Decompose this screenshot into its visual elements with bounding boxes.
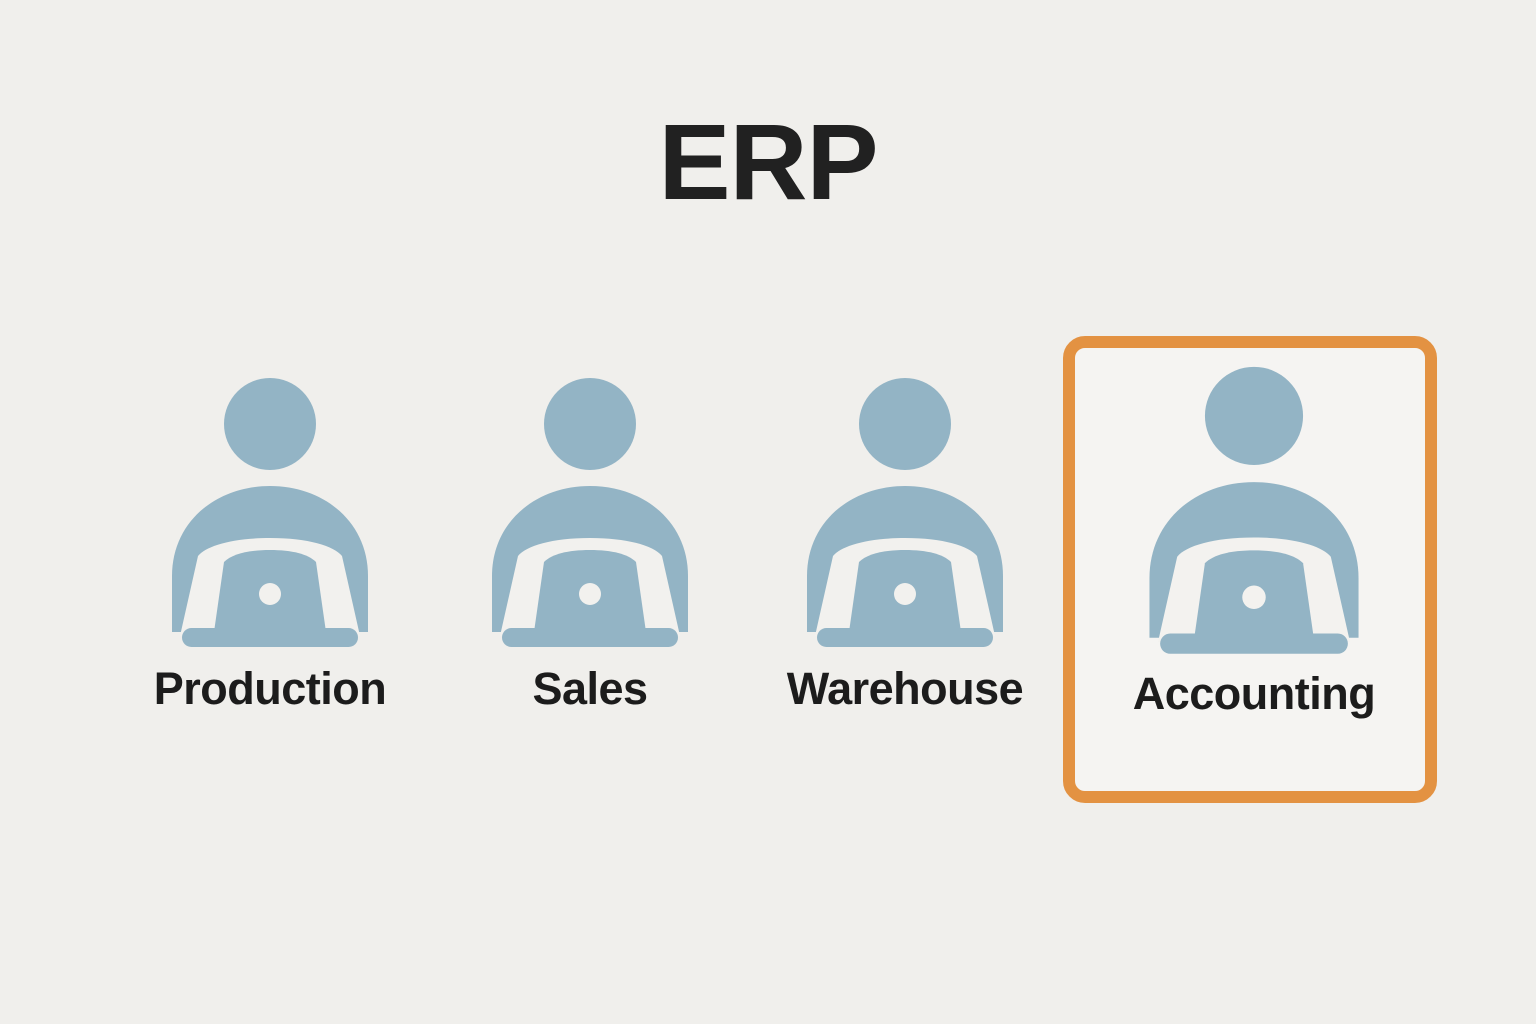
person-at-laptop-icon	[755, 370, 1055, 660]
node-sales[interactable]: Sales	[440, 370, 740, 750]
page-title: ERP	[0, 108, 1536, 216]
node-production[interactable]: Production	[120, 370, 420, 750]
node-warehouse[interactable]: Warehouse	[755, 370, 1055, 750]
diagram-canvas: ERP Production	[0, 0, 1536, 1024]
node-label: Warehouse	[715, 664, 1095, 714]
node-accounting[interactable]: Accounting	[1094, 358, 1394, 738]
node-label: Accounting	[1064, 669, 1444, 719]
person-at-laptop-icon	[1094, 358, 1414, 668]
person-at-laptop-icon	[120, 370, 420, 660]
person-at-laptop-icon	[440, 370, 740, 660]
